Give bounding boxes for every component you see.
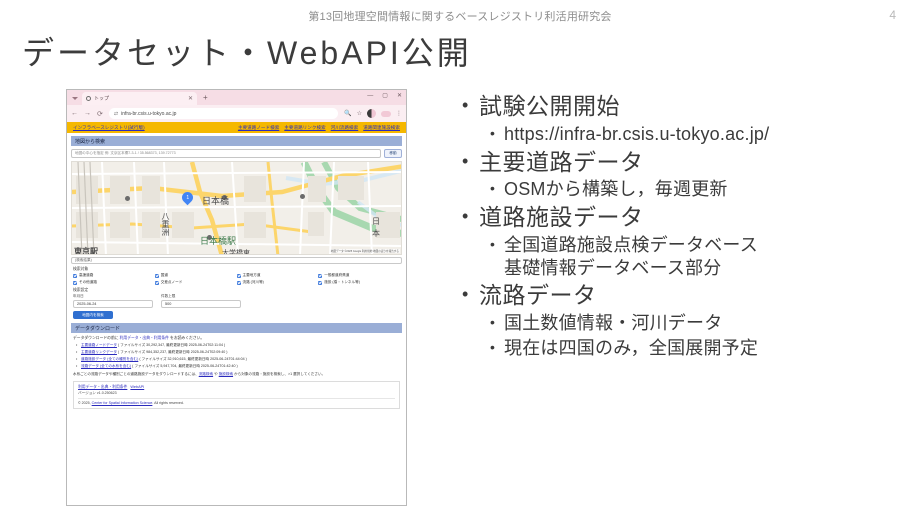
checkbox-icon [73,274,77,278]
checkbox-icon [237,274,241,278]
footer-version: バージョン v1.0.250623 [78,391,395,396]
map-vector-layer [72,162,402,255]
download-note-prefix: 水系ごとの流路データや種別ごとの道路施設データをダウンロードするには、 [73,372,199,376]
map-label-nihonbashi: 日本橋 [202,194,229,207]
checkbox-label: その他道路 [79,280,97,285]
address-bar[interactable]: ⇄ infra-br.csis.u-tokyo.ac.jp [109,108,338,119]
map-label-tokyo-station: 東京駅 [74,246,98,255]
footer-webapi-link[interactable]: WebAPI [130,385,144,389]
download-item-detail: ( ファイルサイズ 32,910,615, 最終更新日時 2025-06-24T… [139,357,247,361]
checkbox-icon [73,281,77,285]
map-canvas[interactable]: 1 日本橋 日本橋駅 八重洲 日 本 大学橋東 東京駅 地図データ ©2025 … [71,161,402,255]
checkbox-icon [155,274,159,278]
window-controls: — ▢ ✕ [367,92,402,99]
bullet-level2: • OSMから構築し，毎週更新 [490,178,914,201]
map-label-hon: 本 [372,228,380,239]
checkbox-major-local-road[interactable]: 主要地方道 [237,273,319,278]
bullet-dot-icon: • [490,337,504,359]
download-link-road-link[interactable]: 主要道路リンクデータ [81,350,117,354]
footer-copyright: © 2025, Center for Spatial Information S… [78,398,395,405]
bullet-level1-label: 主要道路データ [479,148,644,178]
bullet-level2: • 現在は四国のみ，全国展開予定 [490,337,914,360]
checkbox-icon [318,274,322,278]
download-item-detail: ( ファイルサイズ 5,947,704, 最終更新日時 2025-06-24T0… [132,364,238,368]
bullet-dot-icon: • [462,92,479,118]
nav-link-facility-search[interactable]: 道路関連施設検索 [363,125,400,131]
map-label-nihonbashi-station: 日本橋駅 [200,234,236,247]
minimize-icon[interactable]: — [367,93,373,99]
maximize-icon[interactable]: ▢ [382,92,388,99]
checkbox-label: 一般都道府県道 [324,273,349,278]
bullet-level2-label: 現在は四国のみ，全国展開予定 [504,337,758,360]
download-link-facility[interactable]: 道路施設データ (全ての種別を含む) [81,357,138,361]
site-nav-links: 主要道路ノード検索 主要道路リンク検索 河川流路検索 道路関連施設検索 [238,125,400,131]
map-move-button[interactable]: 移動 [384,149,402,158]
checkbox-expressway[interactable]: 高速道路 [73,273,155,278]
checkbox-label: 交差点ノード [161,280,183,285]
map-center-input[interactable]: 地図の中心を指定 例: 文京区本郷7-3-1 / 35.568373, 139.… [71,149,381,158]
bullet-dot-icon: • [490,234,504,256]
nav-link-river-search[interactable]: 河川流路検索 [331,125,359,131]
browser-tab-title: トップ [94,95,185,102]
download-item: 流路データ (全ての水系を含む) ( ファイルサイズ 5,947,704, 最終… [81,364,400,369]
close-window-icon[interactable]: ✕ [397,92,402,99]
map-center-search-row: 地図の中心を指定 例: 文京区本郷7-3-1 / 35.568373, 139.… [71,149,402,158]
filter-checkbox-grid: 高速道路 国道 主要地方道 一般都道府県道 その他道路 交差点ノード [73,273,400,285]
avatar[interactable] [367,109,376,118]
checkbox-label: 流路 (河川等) [243,280,264,285]
limit-input[interactable]: 500 [161,300,241,308]
limit-field-label: 件数上限 [161,294,241,299]
date-input[interactable]: 2025-06-24 [73,300,153,308]
bullet-level1: • 試験公開開始 [462,92,914,122]
address-bar-url: infra-br.csis.u-tokyo.ac.jp [121,111,176,117]
checkbox-river-channel[interactable]: 流路 (河川等) [237,280,319,285]
bullet-level1-label: 道路施設データ [479,203,644,233]
download-note: 水系ごとの流路データや種別ごとの道路施設データをダウンロードするには、流路検索 … [73,372,400,377]
map-poi-icon [125,196,130,201]
checkbox-icon [237,281,241,285]
download-list: 主要道路ノードデータ ( ファイルサイズ 30,292,347, 最終更新日時 … [81,343,400,369]
river-search-link[interactable]: 流路検索 [199,372,213,376]
download-item-detail: ( ファイルサイズ 30,292,347, 最終更新日時 2025-06-24T… [118,343,225,347]
browser-tab[interactable]: トップ ✕ [82,92,197,105]
close-icon[interactable]: ✕ [188,95,193,102]
web-page-content: インフラベースレジストリ(試行版) 主要道路ノード検索 主要道路リンク検索 河川… [67,122,406,506]
filter-group-label: 検索対象 [73,267,406,272]
bullet-dot-icon: • [462,148,479,174]
copyright-prefix: © 2025, [78,401,92,405]
map-search-section-title: 地図から検索 [71,136,402,146]
browser-toolbar: ← → ⟳ ⇄ infra-br.csis.u-tokyo.ac.jp 🔍 ☆ … [67,105,406,122]
bullet-level2: • https://infra-br.csis.u-tokyo.ac.jp/ [490,123,914,146]
download-item-detail: ( ファイルサイズ 984,352,237, 最終更新日時 2025-06-24… [118,350,228,354]
bookmark-star-icon[interactable]: ☆ [357,110,362,117]
bullet-dot-icon: • [462,203,479,229]
forward-icon[interactable]: → [84,110,91,117]
checkbox-prefectural-road[interactable]: 一般都道府県道 [318,273,400,278]
facility-search-link[interactable]: 施設検索 [219,372,233,376]
bullet-level2-label: https://infra-br.csis.u-tokyo.ac.jp/ [504,123,769,146]
browser-tab-strip: トップ ✕ + — ▢ ✕ [67,90,406,105]
checkbox-facility[interactable]: 施設 (橋・トンネル等) [318,280,400,285]
site-brand-link[interactable]: インフラベースレジストリ(試行版) [73,125,145,131]
menu-icon[interactable]: ⋮ [396,110,402,117]
map-label-nihon: 日 [372,216,380,227]
bullet-dot-icon: • [490,312,504,334]
bullet-dot-icon: • [462,281,479,307]
download-item: 主要道路リンクデータ ( ファイルサイズ 984,352,237, 最終更新日時… [81,350,400,355]
settings-field-row: 年月日 2025-06-24 件数上限 500 [73,294,400,308]
toolbar-right-icons: 🔍 ☆ ⋮ [344,109,402,118]
site-footer: 利用データ・出典・利用条件WebAPI バージョン v1.0.250623 © … [73,381,400,409]
bullet-level1-label: 試験公開開始 [479,92,620,122]
download-intro: データダウンロードの前に 利用データ・出典・利用条件 をお読みください。 [73,336,400,341]
favicon-icon [86,96,91,101]
download-item: 主要道路ノードデータ ( ファイルサイズ 30,292,347, 最終更新日時 … [81,343,400,348]
download-item: 道路施設データ (全ての種別を含む) ( ファイルサイズ 32,910,615,… [81,357,400,362]
search-result-box: (検索結果) [71,257,402,264]
bullet-level2-label: OSMから構築し，毎週更新 [504,178,728,201]
bullet-level2: • 全国道路施設点検データベース 基礎情報データベース部分 [490,234,914,279]
bullet-level2: • 国土数値情報・河川データ [490,312,914,335]
terms-link[interactable]: 利用データ・出典・利用条件 [120,336,169,340]
reload-icon[interactable]: ⟳ [97,110,103,118]
date-field-label: 年月日 [73,294,153,299]
site-navbar: インフラベースレジストリ(試行版) 主要道路ノード検索 主要道路リンク検索 河川… [67,122,406,133]
tab-search-chevron-icon[interactable] [70,93,79,102]
nav-link-road-node-search[interactable]: 主要道路ノード検索 [238,125,279,131]
new-tab-button[interactable]: + [203,93,208,102]
page-number: 4 [889,8,896,22]
bullet-level2-label: 全国道路施設点検データベース 基礎情報データベース部分 [504,234,758,279]
bullet-dot-icon: • [490,123,504,145]
page-title: データセット・WebAPI公開 [22,28,472,74]
download-section-title: データダウンロード [71,323,402,333]
checkbox-national-road[interactable]: 国道 [155,273,237,278]
checkbox-icon [155,281,159,285]
download-link-river[interactable]: 流路データ (全ての水系を含む) [81,364,131,368]
bullet-level1: • 主要道路データ [462,148,914,178]
checkbox-intersection-node[interactable]: 交差点ノード [155,280,237,285]
date-field-wrapper: 年月日 2025-06-24 [73,294,153,308]
browser-screenshot: トップ ✕ + — ▢ ✕ ← → ⟳ ⇄ infra-br.csis.u-to… [66,89,407,506]
footer-terms-link[interactable]: 利用データ・出典・利用条件 [78,385,127,389]
zoom-icon[interactable]: 🔍 [344,110,351,117]
download-link-road-node[interactable]: 主要道路ノードデータ [81,343,117,347]
checkbox-icon [318,281,322,285]
search-in-map-button[interactable]: 地図内を検索 [73,311,113,319]
map-poi-icon [300,194,305,199]
download-intro-suffix: をお読みください。 [169,336,204,340]
map-label-daigakubashi: 大学橋東 [222,248,250,255]
limit-field-wrapper: 件数上限 500 [161,294,241,308]
download-note-suffix: から対象の流路・施設を検索し、>1 選択してください。 [233,372,325,376]
checkbox-other-road[interactable]: その他道路 [73,280,155,285]
copyright-suffix: . All rights reserved. [152,401,184,405]
profile-pill-icon[interactable] [381,111,391,117]
settings-group-label: 検索設定 [73,288,406,293]
back-icon[interactable]: ← [71,110,78,117]
map-label-yaesu: 八重洲 [160,212,171,236]
bullet-level2-label: 国土数値情報・河川データ [504,312,722,335]
slide-running-header: 第13回地理空間情報に関するベースレジストリ利活用研究会 [0,8,920,24]
checkbox-label: 施設 (橋・トンネル等) [324,280,360,285]
map-marker-label: 1 [186,195,189,201]
bullet-level1: • 流路データ [462,281,914,311]
checkbox-label: 国道 [161,273,168,278]
checkbox-label: 高速道路 [79,273,93,278]
footer-links: 利用データ・出典・利用条件WebAPI [78,385,395,390]
checkbox-label: 主要地方道 [243,273,261,278]
download-intro-prefix: データダウンロードの前に [73,336,120,340]
csis-link[interactable]: Center for Spatial Information Science [92,401,153,405]
bullet-dot-icon: • [490,178,504,200]
bullet-list: • 試験公開開始 • https://infra-br.csis.u-tokyo… [462,92,914,362]
bullet-level1: • 道路施設データ [462,203,914,233]
nav-link-road-link-search[interactable]: 主要道路リンク検索 [284,125,325,131]
site-info-icon[interactable]: ⇄ [114,111,118,117]
bullet-level1-label: 流路データ [479,281,597,311]
map-attribution: 地図データ ©2025 Google 利用規約 地図の誤りを報告する [330,249,400,253]
